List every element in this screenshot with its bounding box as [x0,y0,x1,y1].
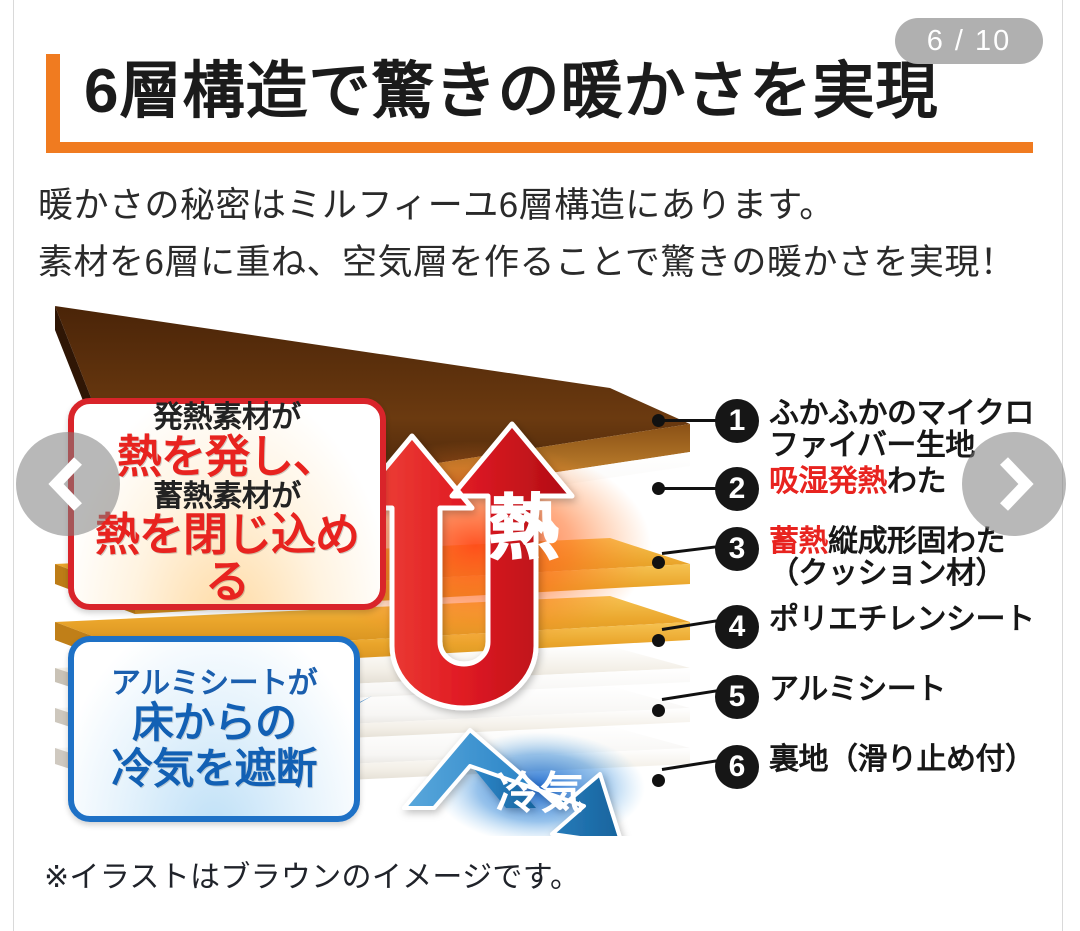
page-counter-badge: 6 / 10 [895,18,1043,64]
heat-label-text: 熱 [489,489,559,567]
legend-number-5: 5 [715,675,759,719]
legend-highlight-2: 吸湿発熱 [769,465,887,498]
prev-slide-button[interactable] [16,432,120,536]
slide-page: 6 / 10 6層構造で驚きの暖かさを実現 暖かさの秘密はミルフィーユ6層構造に… [0,0,1080,931]
cold-callout-line-2: 床からの [132,700,296,745]
subtitle-block: 暖かさの秘密はミルフィーユ6層構造にあります。 素材を6層に重ね、空気層を作るこ… [38,178,1038,291]
title-accent-vertical-bar [46,54,60,142]
legend-label-3: 蓄熱縦成形固わた （クッション材） [769,526,1005,591]
legend-highlight-3: 蓄熱 [769,525,828,558]
legend-item-4: 4 ポリエチレンシート [715,604,1035,649]
heat-callout-line-2: 熱を発し、 [117,434,337,481]
cold-callout-box: アルミシートが 床からの 冷気を遮断 [68,636,360,822]
cold-label-text: 冷気 [496,769,584,818]
chevron-left-icon [45,457,91,511]
legend-rest-3: 縦成形固わた [828,525,1005,558]
cold-callout-line-3: 冷気を遮断 [111,746,316,791]
legend-item-3: 3 蓄熱縦成形固わた （クッション材） [715,526,1005,591]
leader-dot-4 [652,634,665,647]
next-slide-button[interactable] [962,432,1066,536]
leader-line-1 [662,419,718,422]
illustration-footnote: ※イラストはブラウンのイメージです。 [44,852,580,896]
legend-label-2: 吸湿発熱わた [769,466,946,498]
legend-label-2-line-1: 吸湿発熱わた [769,466,946,498]
legend-label-6-line-1: 裏地（滑り止め付） [769,744,1035,776]
chevron-right-icon [991,457,1037,511]
legend-label-1-line-1: ふかふかのマイクロ [769,398,1034,430]
legend-label-3-line-2: （クッション材） [769,558,1005,590]
page-title-block: 6層構造で驚きの暖かさを実現 [46,54,1036,156]
heat-callout-line-1: 発熱素材が [153,402,301,434]
legend-number-2: 2 [715,467,759,511]
leader-line-2 [662,487,718,490]
heat-callout-line-4: 熱を閉じ込める [74,512,380,606]
cold-callout-line-1: アルミシートが [111,667,317,700]
legend-label-4: ポリエチレンシート [769,604,1035,636]
legend-number-4: 4 [715,605,759,649]
title-accent-underline [46,142,1033,153]
legend-number-1: 1 [715,399,759,443]
page-title: 6層構造で驚きの暖かさを実現 [84,50,938,134]
legend-label-4-line-1: ポリエチレンシート [769,604,1035,636]
legend-item-6: 6 裏地（滑り止め付） [715,744,1035,789]
legend-label-6: 裏地（滑り止め付） [769,744,1035,776]
legend-number-3: 3 [715,527,759,571]
legend-number-6: 6 [715,745,759,789]
subtitle-line-2: 素材を6層に重ね、空気層を作ることで驚きの暖かさを実現！ [38,235,1038,292]
leader-dot-3 [652,556,665,569]
heat-callout-line-3: 蓄熱素材が [153,481,301,513]
page-counter-text: 6 / 10 [927,25,1012,58]
subtitle-line-1: 暖かさの秘密はミルフィーユ6層構造にあります。 [38,178,1038,235]
legend-label-5: アルミシート [769,674,946,706]
legend-item-2: 2 吸湿発熱わた [715,466,946,511]
legend-label-5-line-1: アルミシート [769,674,946,706]
legend-rest-2: わた [887,465,946,498]
leader-dot-5 [652,704,665,717]
legend-item-5: 5 アルミシート [715,674,946,719]
leader-dot-6 [652,774,665,787]
legend-label-3-line-1: 蓄熱縦成形固わた [769,526,1005,558]
